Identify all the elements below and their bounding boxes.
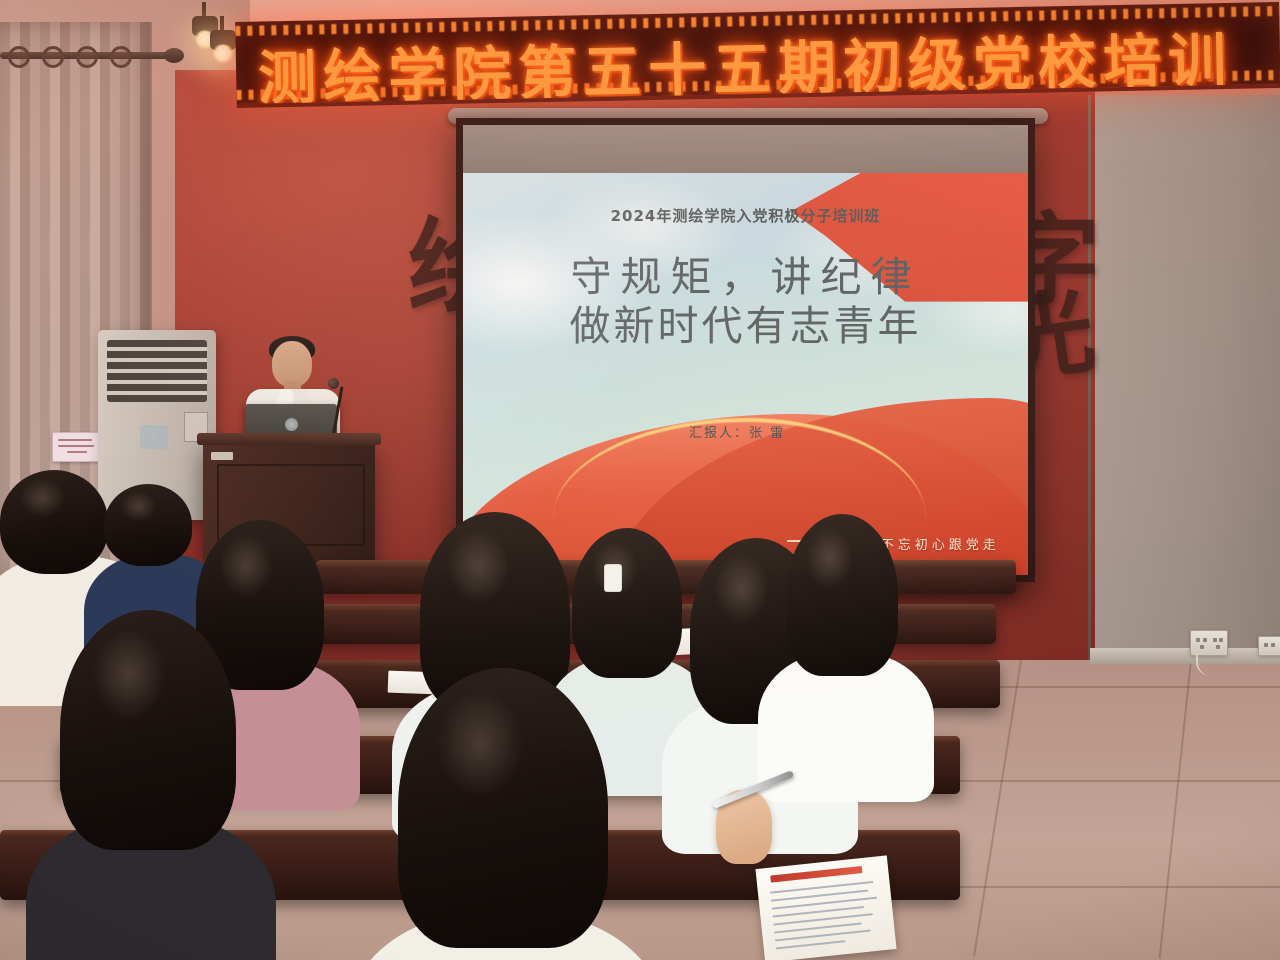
podium-nameplate [211, 452, 233, 460]
hair-clip-icon [604, 564, 622, 592]
baseboard [1090, 648, 1280, 664]
screen-top-band [463, 125, 1028, 173]
curtain-grommet [8, 46, 30, 68]
open-notebook [755, 855, 896, 960]
slide-slogan: 不忘初心跟党走 [881, 534, 1000, 553]
microphone-head-icon [328, 378, 339, 389]
curtain-rod-finial [164, 48, 184, 63]
curtain-grommet [42, 46, 64, 68]
projector-screen: 2024年测绘学院入党积极分子培训班 守规矩，讲纪律 做新时代有志青年 汇报人：… [456, 118, 1035, 582]
wall-outlet-single[interactable] [1258, 636, 1280, 656]
slide-title-line-1: 守规矩，讲纪律 [463, 253, 1028, 301]
podium-top-surface [197, 433, 381, 445]
lecture-hall-photo: 绘 字 光 测绘学院第五十五期初级党校培训 [0, 0, 1280, 960]
ac-louvers [107, 340, 207, 402]
slide-subtitle: 2024年测绘学院入党积极分子培训班 [463, 205, 1028, 226]
slide-title: 守规矩，讲纪律 做新时代有志青年 [463, 253, 1028, 350]
laptop-logo-icon [285, 418, 298, 431]
right-side-wall [1090, 95, 1280, 665]
spotlight-bulb-icon [212, 44, 234, 64]
slide-surface: 2024年测绘学院入党积极分子培训班 守规矩，讲纪律 做新时代有志青年 汇报人：… [463, 173, 1028, 575]
slide-presenter: 汇报人：张 雷 [689, 422, 785, 441]
curtain-grommet [76, 46, 98, 68]
ac-display-panel [140, 425, 168, 449]
curtain-grommet [110, 46, 132, 68]
slide-title-line-2: 做新时代有志青年 [463, 302, 1028, 350]
notice-sign [52, 432, 100, 462]
notebook-header [770, 866, 862, 883]
